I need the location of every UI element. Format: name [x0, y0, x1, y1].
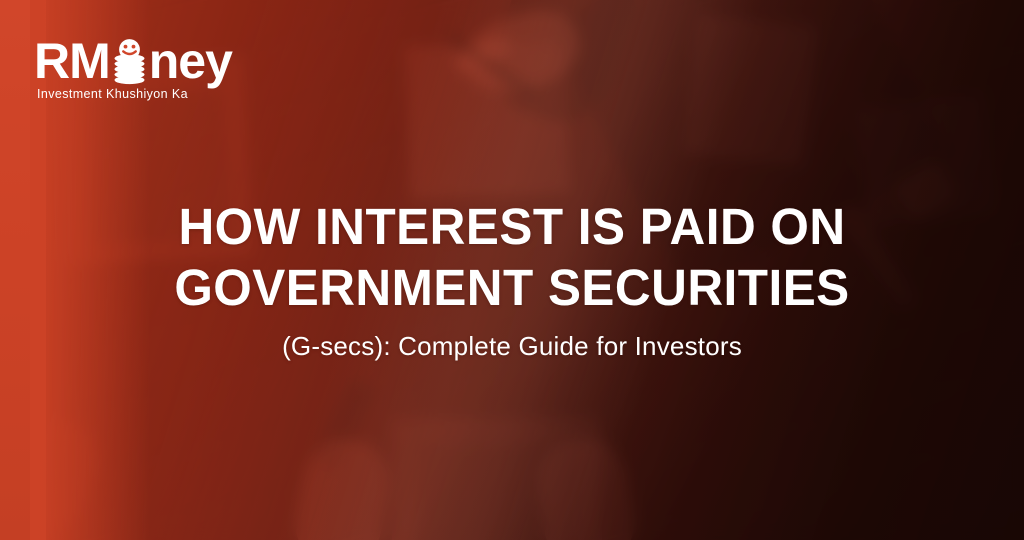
logo-wordmark: RM ney: [34, 34, 244, 86]
headline-block: HOW INTEREST IS PAID ON GOVERNMENT SECUR…: [0, 196, 1024, 363]
coin-stack-smiley-icon: [111, 36, 148, 86]
page-title-line-2: GOVERNMENT SECURITIES: [83, 257, 940, 318]
logo-text-rm: RM: [34, 36, 110, 86]
page-title-line-1: HOW INTEREST IS PAID ON: [83, 196, 940, 257]
page-subtitle: (G-secs): Complete Guide for Investors: [70, 329, 954, 363]
rmoney-logo[interactable]: RM ney Investment Khushiyon Ka: [34, 34, 244, 101]
logo-text-ney: ney: [149, 36, 232, 86]
logo-tagline: Investment Khushiyon Ka: [37, 87, 244, 101]
article-hero-banner: RM ney Investment Khushiyon Ka: [0, 0, 1024, 540]
